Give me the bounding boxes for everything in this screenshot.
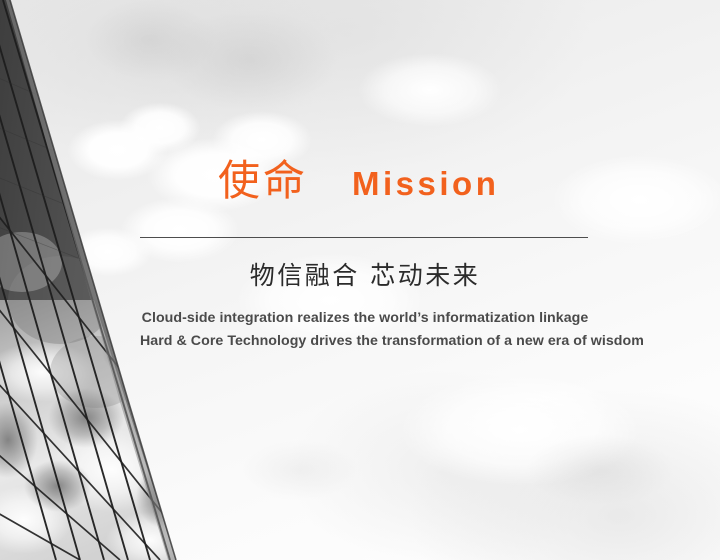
title-divider [140, 237, 588, 238]
subtitle-chinese: 物信融合 芯动未来 [140, 261, 590, 291]
description-line-1: Cloud-side integration realizes the worl… [140, 307, 590, 330]
mission-content: 使命 Mission 物信融合 芯动未来 Cloud-side integrat… [140, 160, 590, 353]
page-title-english: Mission [352, 167, 499, 200]
description-block: Cloud-side integration realizes the worl… [140, 307, 590, 353]
mission-banner: 使命 Mission 物信融合 芯动未来 Cloud-side integrat… [0, 0, 720, 560]
title-row: 使命 Mission [140, 160, 590, 222]
page-title-chinese: 使命 [218, 160, 308, 202]
description-line-2: Hard & Core Technology drives the transf… [140, 330, 590, 353]
